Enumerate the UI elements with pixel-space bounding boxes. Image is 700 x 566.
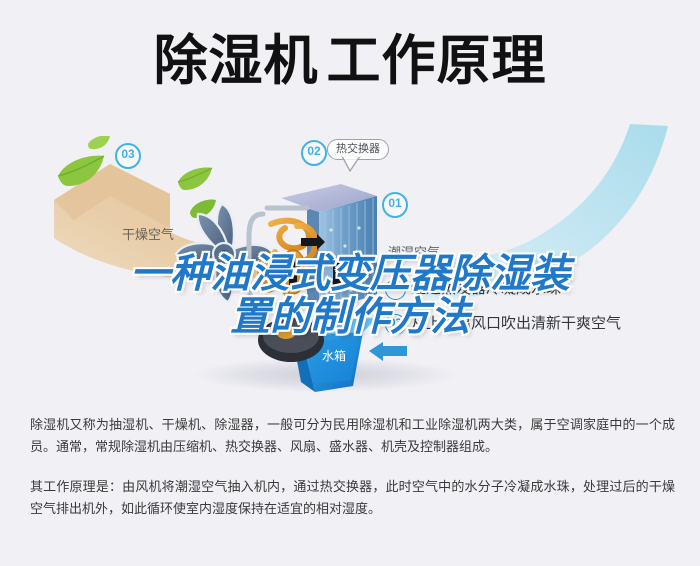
page-title-part2: 工作原理 — [327, 29, 547, 92]
step-line-02: 02经过蒸发器冷凝成水珠 — [385, 277, 561, 300]
page-title: 除湿机工作原理 — [0, 30, 700, 92]
step-badge-02: 02 — [385, 279, 406, 300]
paragraph-1: 除湿机又称为抽湿机、干燥机、除湿器，一般可分为民用除湿机和工业除湿机两大类，属于… — [30, 415, 675, 459]
page-title-part1: 除湿机 — [154, 29, 319, 92]
step-text-03: 从上部出风口吹出清新干爽空气 — [411, 314, 621, 332]
label-water-tank: 水箱 — [322, 347, 422, 395]
body-copy: 除湿机又称为抽湿机、干燥机、除湿器，一般可分为民用除湿机和工业除湿机两大类，属于… — [30, 415, 675, 525]
label-humid-air: 潮湿空气 — [388, 242, 440, 261]
step-line-03: 03从上部出风口吹出清新干爽空气 — [385, 312, 621, 335]
badge-03-dry-air: 03 — [115, 143, 141, 169]
label-dry-air: 干燥空气 — [122, 224, 174, 243]
callout-pointer-icon — [340, 156, 362, 172]
paragraph-spacer — [30, 463, 675, 477]
dehumidifier-diagram: 03 02 01 热交换器 干燥空气 潮湿空气 水箱 02经过蒸发器冷凝成水珠 … — [0, 120, 700, 395]
badge-02-heat-exchanger: 02 — [301, 140, 327, 166]
title-band: 除湿机工作原理 — [0, 0, 700, 120]
badge-01-humid-air: 01 — [382, 192, 408, 218]
paragraph-2: 其工作原理是：由风机将潮湿空气抽入机内，通过热交换器，此时空气中的水分子冷凝成水… — [30, 477, 675, 521]
step-text-02: 经过蒸发器冷凝成水珠 — [411, 279, 561, 297]
page-root: 除湿机工作原理 — [0, 0, 700, 566]
compressor-base-icon — [256, 316, 326, 364]
step-badge-03: 03 — [385, 314, 406, 335]
